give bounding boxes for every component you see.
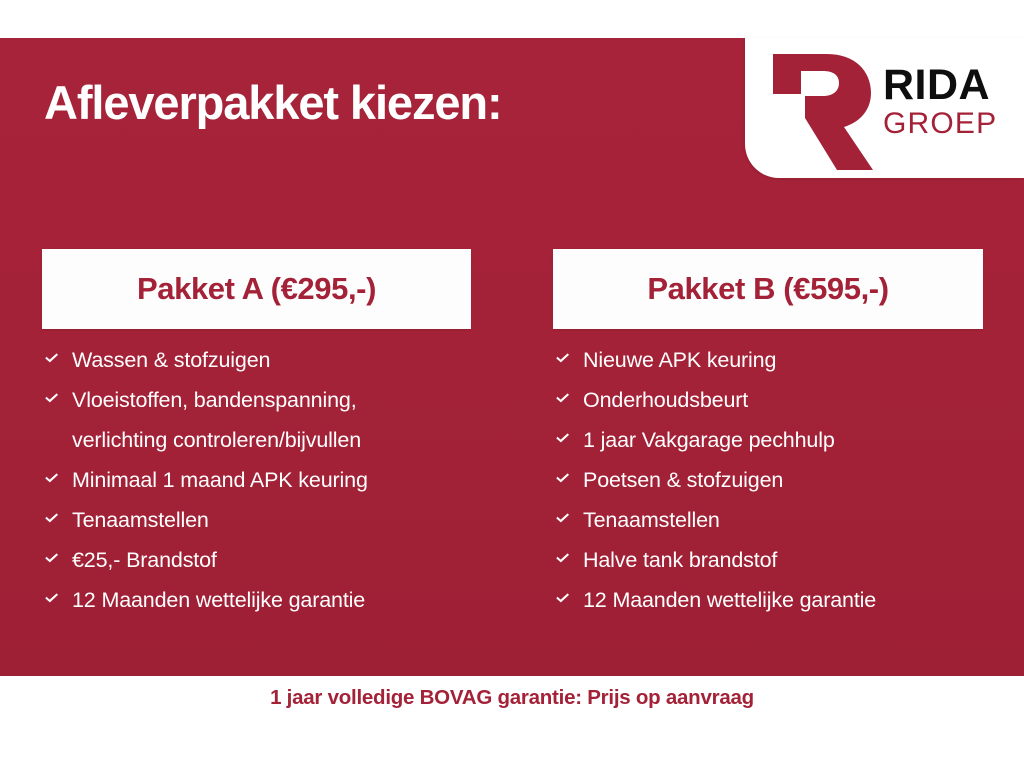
feature-text: Tenaamstellen bbox=[72, 500, 512, 540]
check-icon bbox=[42, 460, 72, 488]
feature-item: Onderhoudsbeurt bbox=[553, 380, 1023, 420]
feature-item: Wassen & stofzuigen bbox=[42, 340, 512, 380]
footer-note: 1 jaar volledige BOVAG garantie: Prijs o… bbox=[0, 686, 1024, 710]
feature-text: €25,- Brandstof bbox=[72, 540, 512, 580]
check-icon bbox=[42, 500, 72, 528]
logo-panel: RIDA GROEP bbox=[745, 38, 1024, 178]
feature-item: 12 Maanden wettelijke garantie bbox=[553, 580, 1023, 620]
feature-item: Halve tank brandstof bbox=[553, 540, 1023, 580]
feature-item: Vloeistoffen, bandenspanning, verlichtin… bbox=[42, 380, 512, 460]
feature-item: €25,- Brandstof bbox=[42, 540, 512, 580]
logo-primary-text: RIDA bbox=[883, 64, 1023, 106]
feature-text: Halve tank brandstof bbox=[583, 540, 1023, 580]
top-white-strip bbox=[0, 0, 1024, 38]
feature-text: Minimaal 1 maand APK keuring bbox=[72, 460, 512, 500]
check-icon bbox=[553, 460, 583, 488]
package-header-card-b[interactable]: Pakket B (€595,-) bbox=[553, 249, 983, 329]
package-title-b: Pakket B (€595,-) bbox=[647, 271, 888, 307]
feature-item: Poetsen & stofzuigen bbox=[553, 460, 1023, 500]
check-icon bbox=[553, 500, 583, 528]
check-icon bbox=[42, 540, 72, 568]
feature-text: Poetsen & stofzuigen bbox=[583, 460, 1023, 500]
feature-text: Vloeistoffen, bandenspanning, verlichtin… bbox=[72, 380, 512, 460]
feature-item: 12 Maanden wettelijke garantie bbox=[42, 580, 512, 620]
feature-item: Nieuwe APK keuring bbox=[553, 340, 1023, 380]
feature-item: 1 jaar Vakgarage pechhulp bbox=[553, 420, 1023, 460]
check-icon bbox=[553, 580, 583, 608]
package-title-a: Pakket A (€295,-) bbox=[137, 271, 376, 307]
check-icon bbox=[553, 380, 583, 408]
check-icon bbox=[42, 380, 72, 408]
check-icon bbox=[553, 420, 583, 448]
check-icon bbox=[553, 340, 583, 368]
feature-text: 1 jaar Vakgarage pechhulp bbox=[583, 420, 1023, 460]
slide-root: Afleverpakket kiezen: RIDA GROEP Pakket … bbox=[0, 0, 1024, 768]
feature-text: 12 Maanden wettelijke garantie bbox=[583, 580, 1023, 620]
feature-item: Tenaamstellen bbox=[42, 500, 512, 540]
logo-wordmark: RIDA GROEP bbox=[883, 64, 1023, 140]
logo-secondary-text: GROEP bbox=[883, 108, 1023, 140]
logo-lockup: RIDA GROEP bbox=[745, 38, 1024, 178]
feature-text: Nieuwe APK keuring bbox=[583, 340, 1023, 380]
feature-text: 12 Maanden wettelijke garantie bbox=[72, 580, 512, 620]
feature-list-package-b: Nieuwe APK keuringOnderhoudsbeurt1 jaar … bbox=[553, 340, 1023, 620]
rida-r-monogram-icon bbox=[761, 48, 879, 170]
page-title: Afleverpakket kiezen: bbox=[44, 78, 502, 127]
feature-item: Tenaamstellen bbox=[553, 500, 1023, 540]
feature-text: Onderhoudsbeurt bbox=[583, 380, 1023, 420]
feature-text: Tenaamstellen bbox=[583, 500, 1023, 540]
check-icon bbox=[553, 540, 583, 568]
package-header-card-a[interactable]: Pakket A (€295,-) bbox=[42, 249, 471, 329]
feature-text: Wassen & stofzuigen bbox=[72, 340, 512, 380]
check-icon bbox=[42, 580, 72, 608]
feature-list-package-a: Wassen & stofzuigenVloeistoffen, bandens… bbox=[42, 340, 512, 620]
check-icon bbox=[42, 340, 72, 368]
feature-item: Minimaal 1 maand APK keuring bbox=[42, 460, 512, 500]
